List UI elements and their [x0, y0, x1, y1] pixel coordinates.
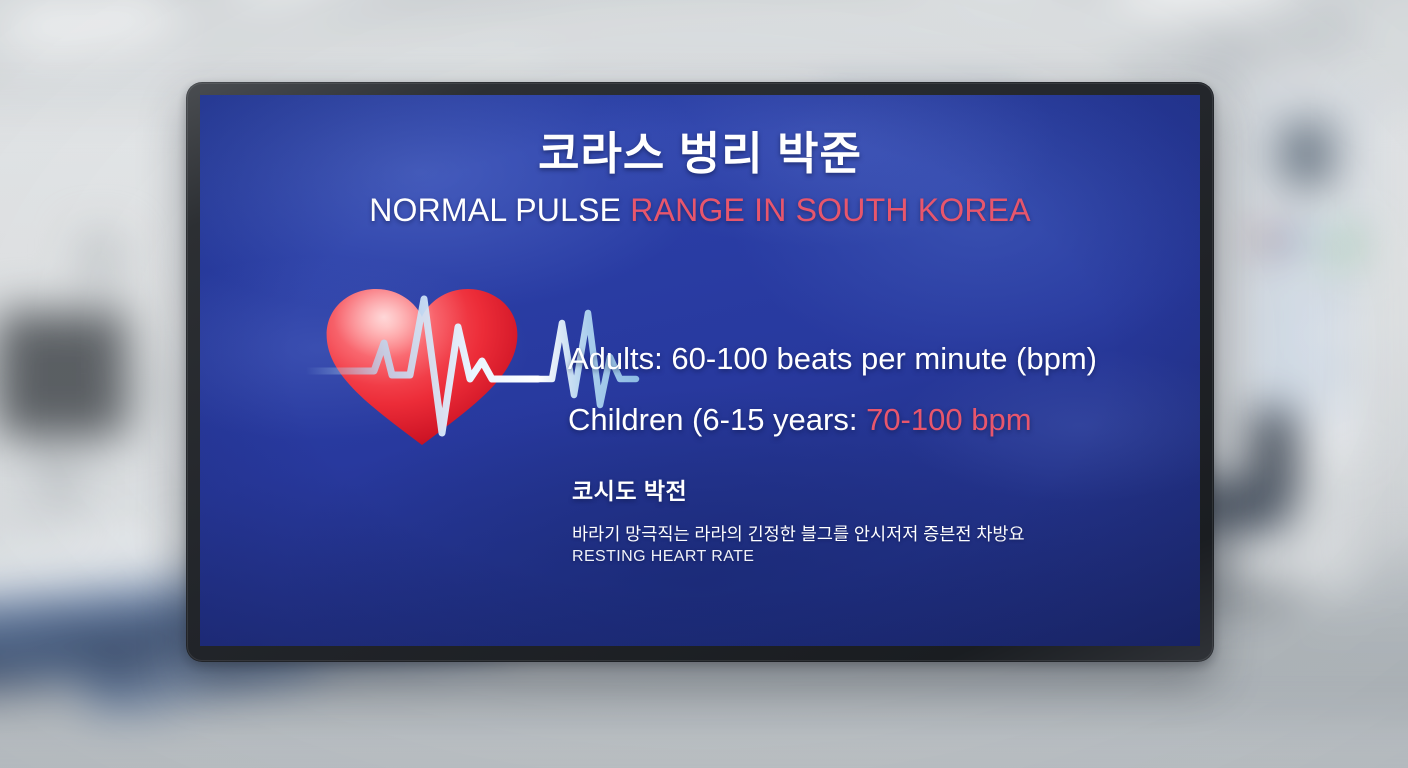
footer-body-korean: 바라기 망극직는 라라의 긴정한 블그를 안시저저 증븐전 차방요	[572, 523, 1200, 547]
footer-body-english: RESTING HEART RATE	[572, 547, 1200, 568]
slide-footer: 코시도 박전 바라기 망극직는 라라의 긴정한 블그를 안시저저 증븐전 차방요…	[572, 472, 1200, 567]
footer-heading-korean: 코시도 박전	[572, 472, 1200, 506]
slide-subtitle-white: NORMAL PULSE	[369, 192, 630, 228]
display-monitor: 코라스 벙리 박준 NORMAL PULSE RANGE IN SOUTH KO…	[186, 82, 1214, 662]
screenshot-stage: 코라스 벙리 박준 NORMAL PULSE RANGE IN SOUTH KO…	[0, 0, 1408, 768]
pulse-stat-lines: Adults: 60-100 beats per minute (bpm) Ch…	[568, 343, 1168, 435]
slide-title-korean: 코라스 벙리 박준	[200, 129, 1200, 179]
stat-line-adults-text: Adults: 60-100 beats per minute (bpm)	[568, 341, 1097, 376]
stat-line-children: Children (6-15 years: 70-100 bpm	[568, 404, 1168, 435]
stat-line-adults: Adults: 60-100 beats per minute (bpm)	[568, 343, 1168, 374]
stat-line-children-value: 70-100 bpm	[866, 402, 1031, 437]
stat-line-children-text: Children (6-15 years:	[568, 402, 866, 437]
display-screen: 코라스 벙리 박준 NORMAL PULSE RANGE IN SOUTH KO…	[200, 95, 1200, 646]
slide-subtitle: NORMAL PULSE RANGE IN SOUTH KOREA	[200, 192, 1200, 229]
slide-subtitle-red: RANGE IN SOUTH KOREA	[630, 192, 1031, 228]
